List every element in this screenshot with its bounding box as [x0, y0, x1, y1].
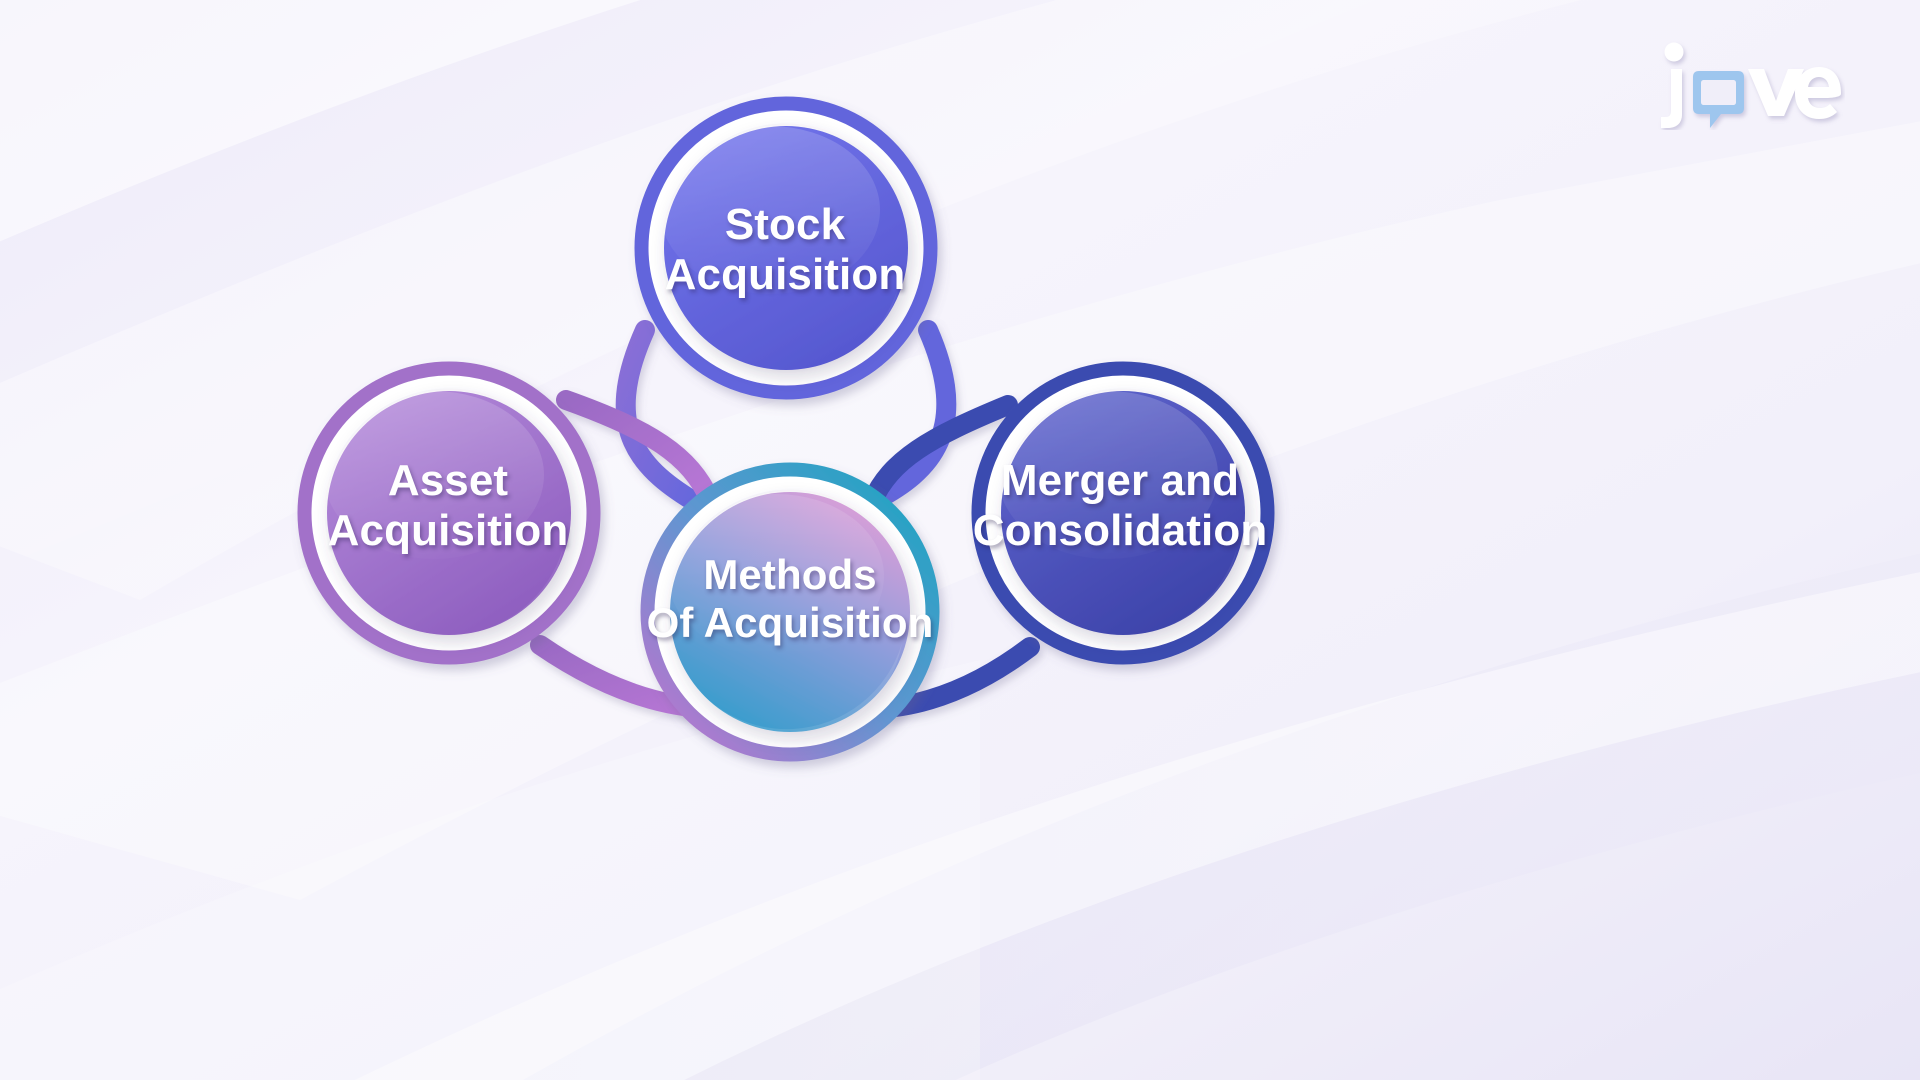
logo-o-bubble-inner [1701, 80, 1736, 105]
jove-logo [1655, 38, 1845, 130]
stock-gloss [660, 126, 880, 294]
merger-gloss [998, 391, 1218, 559]
center-gloss [668, 494, 884, 658]
logo-j-dot [1665, 43, 1684, 62]
node-methods-of-acquisition[interactable] [648, 470, 932, 754]
node-merger-and-consolidation[interactable] [979, 369, 1267, 657]
asset-gloss [324, 391, 544, 559]
diagram-layer [0, 0, 1920, 1080]
slide-canvas: Stock Acquisition Asset Acquisition Merg… [0, 0, 1920, 1080]
logo-j-stem [1661, 69, 1682, 128]
node-stock-acquisition[interactable] [642, 104, 930, 392]
logo-e-letter [1795, 67, 1841, 119]
node-asset-acquisition[interactable] [305, 369, 593, 657]
